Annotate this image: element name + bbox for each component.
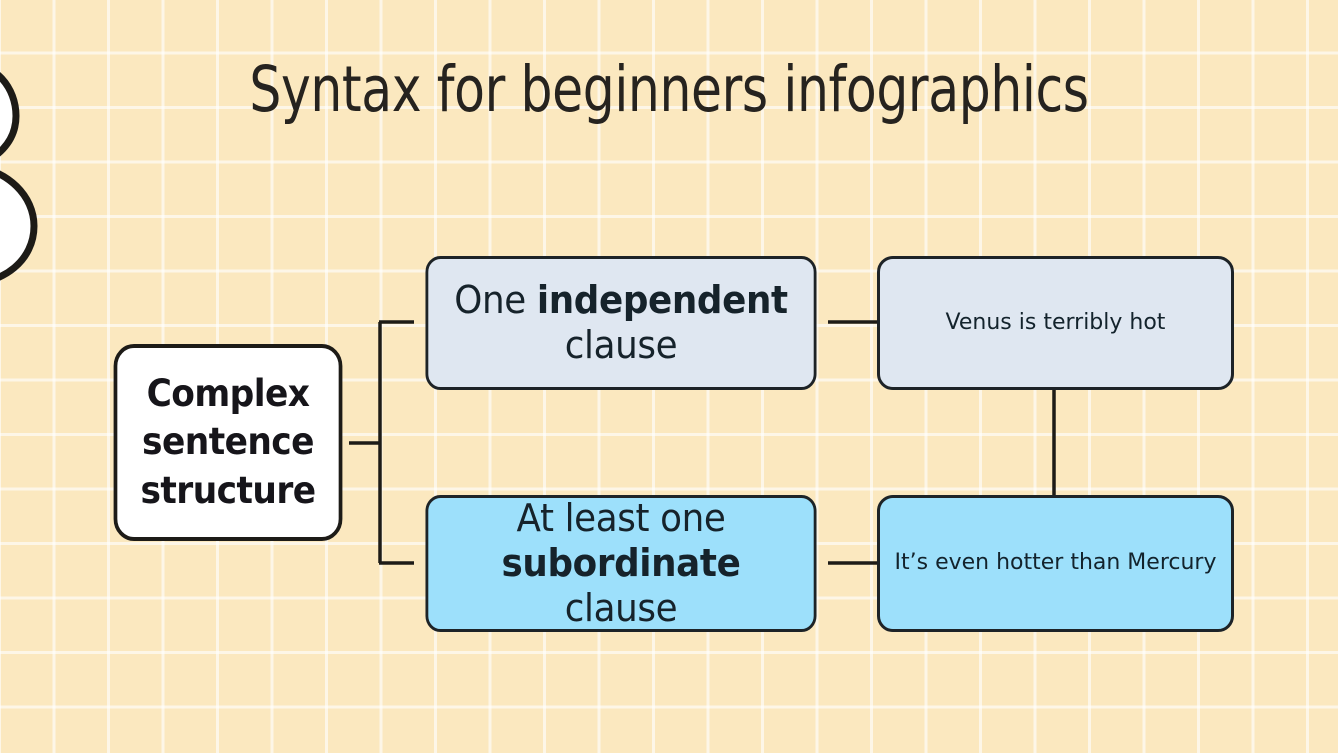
node-subordinate-text: At least one subordinate clause: [428, 496, 813, 630]
clause-emphasis: subordinate: [502, 541, 741, 585]
slide-canvas: Syntax for beginners infographics Comple…: [0, 0, 1338, 753]
node-root-line-2: sentence: [140, 418, 315, 466]
clause-prefix: At least one: [517, 496, 726, 540]
node-complex-sentence-structure[interactable]: Complex sentence structure: [114, 344, 343, 541]
clause-suffix: clause: [565, 586, 677, 630]
clause-prefix: One: [454, 278, 537, 322]
cloud-blob-icon: [0, 58, 94, 288]
node-root-line-3: structure: [140, 467, 315, 515]
clause-suffix: clause: [565, 323, 677, 367]
node-one-independent-clause[interactable]: One independent clause: [425, 256, 816, 390]
page-title: Syntax for beginners infographics: [134, 57, 1204, 123]
node-example-mercury[interactable]: It’s even hotter than Mercury: [877, 495, 1234, 632]
node-example-venus[interactable]: Venus is terribly hot: [877, 256, 1234, 390]
clause-emphasis: independent: [537, 278, 788, 322]
node-root-text: Complex sentence structure: [127, 370, 328, 515]
node-example-venus-text: Venus is terribly hot: [932, 309, 1180, 338]
node-at-least-one-subordinate-clause[interactable]: At least one subordinate clause: [425, 495, 816, 632]
node-independent-text: One independent clause: [428, 278, 813, 368]
node-example-mercury-text: It’s even hotter than Mercury: [881, 549, 1231, 578]
node-root-line-1: Complex: [140, 370, 315, 418]
